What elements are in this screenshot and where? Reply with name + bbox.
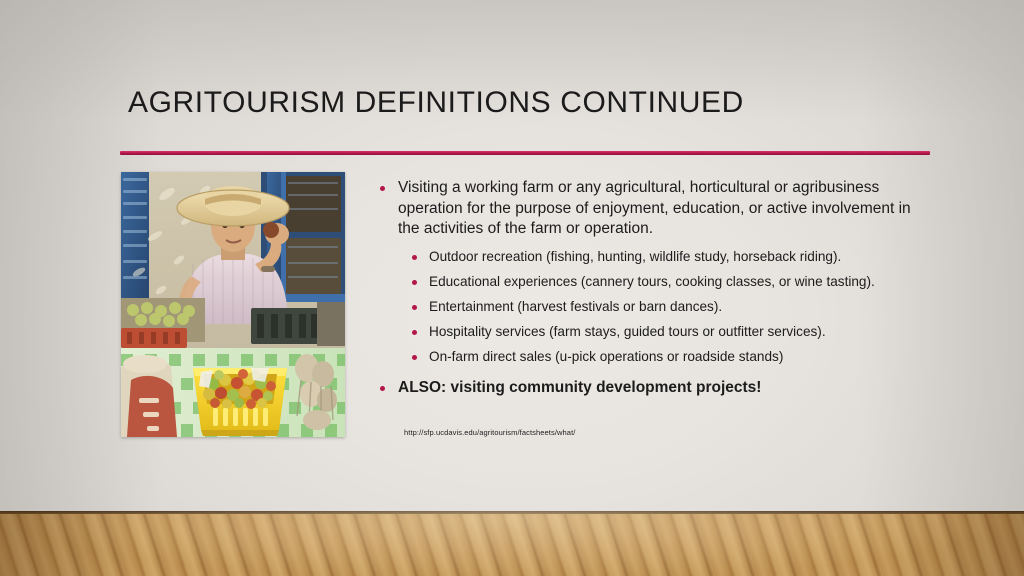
bullet-dot-icon bbox=[380, 386, 385, 391]
bullet-hospitality-services: Hospitality services (farm stays, guided… bbox=[380, 322, 936, 341]
agritourism-market-photo bbox=[121, 172, 345, 437]
bullet-dot-icon bbox=[412, 255, 417, 260]
bullet-on-farm-direct-sales: On-farm direct sales (u-pick operations … bbox=[380, 347, 936, 366]
bullet-educational-experiences: Educational experiences (cannery tours, … bbox=[380, 272, 936, 291]
bullet-text: ALSO: visiting community development pro… bbox=[398, 378, 761, 399]
title-divider-rule bbox=[120, 151, 930, 155]
floor-sheen-overlay bbox=[0, 511, 1024, 576]
page-title: AGRITOURISM DEFINITIONS CONTINUED bbox=[128, 86, 928, 120]
bullet-outdoor-recreation: Outdoor recreation (fishing, hunting, wi… bbox=[380, 247, 936, 266]
bullet-text: Outdoor recreation (fishing, hunting, wi… bbox=[429, 247, 841, 266]
bullet-also-community-development: ALSO: visiting community development pro… bbox=[380, 378, 936, 399]
bullet-text: Entertainment (harvest festivals or barn… bbox=[429, 297, 722, 316]
bullet-text: Educational experiences (cannery tours, … bbox=[429, 272, 875, 291]
bullet-main-definition: Visiting a working farm or any agricultu… bbox=[380, 178, 936, 240]
bullet-dot-icon bbox=[412, 355, 417, 360]
bullet-dot-icon bbox=[412, 305, 417, 310]
presentation-slide: AGRITOURISM DEFINITIONS CONTINUED bbox=[0, 0, 1024, 576]
bullet-text: On-farm direct sales (u-pick operations … bbox=[429, 347, 783, 366]
bullet-dot-icon bbox=[380, 186, 385, 191]
bullet-text: Visiting a working farm or any agricultu… bbox=[398, 178, 936, 240]
bullet-dot-icon bbox=[412, 330, 417, 335]
bullet-entertainment: Entertainment (harvest festivals or barn… bbox=[380, 297, 936, 316]
body-content: Visiting a working farm or any agricultu… bbox=[380, 178, 936, 398]
wood-floor bbox=[0, 511, 1024, 576]
floor-edge-line bbox=[0, 511, 1024, 514]
bullet-text: Hospitality services (farm stays, guided… bbox=[429, 322, 826, 341]
bullet-dot-icon bbox=[412, 280, 417, 285]
source-url-link[interactable]: http://sfp.ucdavis.edu/agritourism/facts… bbox=[404, 428, 575, 437]
